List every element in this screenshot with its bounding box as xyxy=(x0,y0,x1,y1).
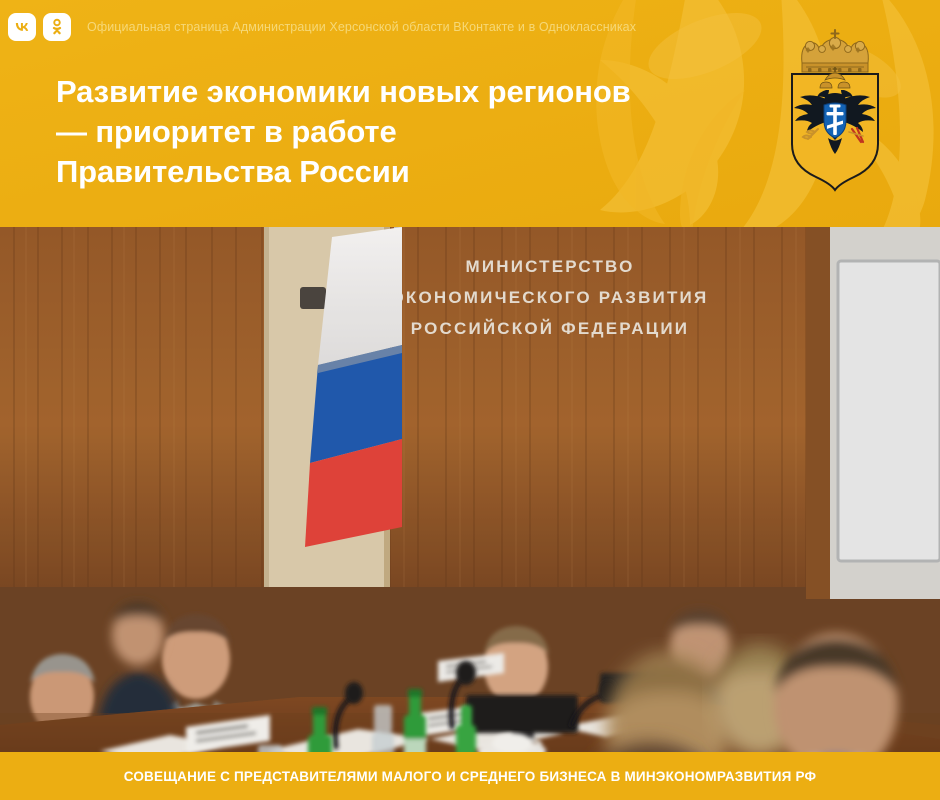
social-media-card: Официальная страница Администрации Херсо… xyxy=(0,0,940,800)
meeting-photograph: МИНИСТЕРСТВО ЭКОНОМИЧЕСКОГО РАЗВИТИЯ РОС… xyxy=(0,227,940,752)
vk-icon[interactable] xyxy=(8,13,36,41)
footer-caption: СОВЕЩАНИЕ С ПРЕДСТАВИТЕЛЯМИ МАЛОГО И СРЕ… xyxy=(124,769,817,784)
social-accounts-text: Официальная страница Администрации Херсо… xyxy=(87,13,636,41)
headline-line-1: Развитие экономики новых регионов xyxy=(56,72,756,112)
headline-line-3: Правительства России xyxy=(56,152,756,192)
header-banner: Официальная страница Администрации Херсо… xyxy=(0,0,940,227)
footer-caption-bar: СОВЕЩАНИЕ С ПРЕДСТАВИТЕЛЯМИ МАЛОГО И СРЕ… xyxy=(0,752,940,800)
odnoklassniki-icon[interactable] xyxy=(43,13,71,41)
page-title: Развитие экономики новых регионов — прио… xyxy=(56,72,756,192)
kherson-coat-of-arms-icon xyxy=(776,26,894,194)
headline-line-2: — приоритет в работе xyxy=(56,112,756,152)
social-links-row[interactable]: Официальная страница Администрации Херсо… xyxy=(8,13,636,41)
